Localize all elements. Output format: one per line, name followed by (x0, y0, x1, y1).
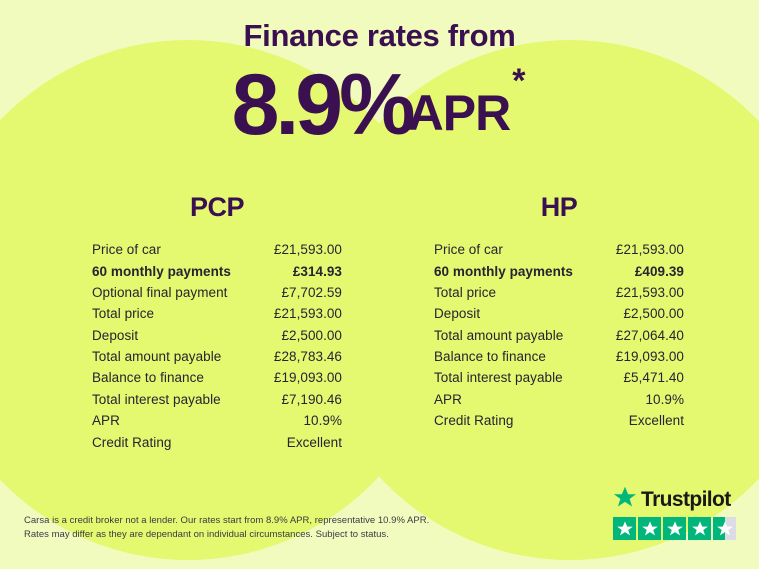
hero-rate-number: 8.9% (232, 57, 412, 153)
finance-row: Total price£21,593.00 (92, 303, 342, 324)
finance-row: Total amount payable£28,783.46 (92, 346, 342, 367)
finance-row-label: Deposit (92, 328, 138, 343)
finance-row-value: 10.9% (303, 413, 342, 428)
finance-row-value: 10.9% (645, 392, 684, 407)
finance-row-label: APR (92, 413, 120, 428)
finance-row-value: £21,593.00 (274, 306, 342, 321)
finance-row-label: 60 monthly payments (92, 264, 231, 279)
finance-row: Price of car£21,593.00 (92, 239, 342, 260)
finance-row-value: £2,500.00 (281, 328, 342, 343)
finance-row-label: Optional final payment (92, 285, 227, 300)
trustpilot-star-icon (663, 517, 686, 540)
finance-row-value: £2,500.00 (623, 306, 684, 321)
disclaimer-line-2: Rates may differ as they are dependant o… (24, 528, 444, 542)
finance-row-value: £7,702.59 (281, 285, 342, 300)
page-title: Finance rates from (0, 19, 759, 53)
promo-graphic: Finance rates from 8.9%APR* PCP Price of… (0, 0, 759, 569)
finance-row-label: Deposit (434, 306, 480, 321)
finance-row-label: Total interest payable (434, 370, 563, 385)
finance-row-label: Total price (434, 285, 496, 300)
finance-row-label: Total price (92, 306, 154, 321)
finance-row-label: Credit Rating (92, 435, 171, 450)
finance-row-value: £28,783.46 (274, 349, 342, 364)
finance-row-value: £19,093.00 (274, 370, 342, 385)
trustpilot-star-icon (613, 517, 636, 540)
finance-row: Balance to finance£19,093.00 (434, 346, 684, 367)
trustpilot-rating-stars (613, 517, 743, 540)
finance-row-value: £314.93 (293, 264, 342, 279)
disclaimer-line-1: Carsa is a credit broker not a lender. O… (24, 514, 444, 528)
hero-rate: 8.9%APR* (0, 62, 759, 148)
finance-row: Total interest payable£5,471.40 (434, 367, 684, 388)
trustpilot-star-icon (713, 517, 736, 540)
finance-row: Total price£21,593.00 (434, 282, 684, 303)
finance-row-value: £409.39 (635, 264, 684, 279)
finance-row-label: Balance to finance (434, 349, 546, 364)
finance-row: Balance to finance£19,093.00 (92, 367, 342, 388)
finance-row-value: Excellent (629, 413, 684, 428)
trustpilot-star-icon (638, 517, 661, 540)
finance-rows-hp: Price of car£21,593.0060 monthly payment… (434, 239, 684, 431)
finance-row-value: Excellent (287, 435, 342, 450)
finance-row-value: £21,593.00 (616, 242, 684, 257)
finance-row-label: Price of car (92, 242, 161, 257)
disclaimer-text: Carsa is a credit broker not a lender. O… (24, 514, 444, 542)
finance-row-label: 60 monthly payments (434, 264, 573, 279)
hero-rate-apr: APR (408, 85, 511, 141)
finance-column-pcp: PCP Price of car£21,593.0060 monthly pay… (92, 192, 342, 453)
trustpilot-badge[interactable]: Trustpilot (613, 487, 743, 540)
finance-row: Deposit£2,500.00 (92, 325, 342, 346)
finance-row: Total amount payable£27,064.40 (434, 325, 684, 346)
trustpilot-wordmark: Trustpilot (613, 487, 743, 513)
finance-row-value: £19,093.00 (616, 349, 684, 364)
finance-row-value: £7,190.46 (281, 392, 342, 407)
finance-row: Price of car£21,593.00 (434, 239, 684, 260)
finance-row-value: £5,471.40 (623, 370, 684, 385)
finance-row: 60 monthly payments£409.39 (434, 260, 684, 281)
finance-row-label: Balance to finance (92, 370, 204, 385)
finance-row: Credit RatingExcellent (92, 431, 342, 452)
finance-row-value: £27,064.40 (616, 328, 684, 343)
finance-row: Deposit£2,500.00 (434, 303, 684, 324)
finance-row-label: Price of car (434, 242, 503, 257)
finance-row: 60 monthly payments£314.93 (92, 260, 342, 281)
finance-row: APR10.9% (92, 410, 342, 431)
finance-row-label: Credit Rating (434, 413, 513, 428)
finance-row: Total interest payable£7,190.46 (92, 389, 342, 410)
finance-column-hp: HP Price of car£21,593.0060 monthly paym… (434, 192, 684, 431)
trustpilot-star-icon (688, 517, 711, 540)
finance-row-value: £21,593.00 (616, 285, 684, 300)
finance-row-label: Total interest payable (92, 392, 221, 407)
finance-row-label: APR (434, 392, 462, 407)
finance-row-label: Total amount payable (92, 349, 221, 364)
finance-row: Credit RatingExcellent (434, 410, 684, 431)
hero-rate-asterisk: * (512, 62, 525, 100)
trustpilot-label: Trustpilot (641, 488, 731, 512)
finance-row: APR10.9% (434, 389, 684, 410)
trustpilot-star-icon (613, 486, 637, 515)
finance-row: Optional final payment£7,702.59 (92, 282, 342, 303)
finance-rows-pcp: Price of car£21,593.0060 monthly payment… (92, 239, 342, 453)
column-title-pcp: PCP (92, 192, 342, 223)
finance-row-label: Total amount payable (434, 328, 563, 343)
column-title-hp: HP (434, 192, 684, 223)
finance-row-value: £21,593.00 (274, 242, 342, 257)
